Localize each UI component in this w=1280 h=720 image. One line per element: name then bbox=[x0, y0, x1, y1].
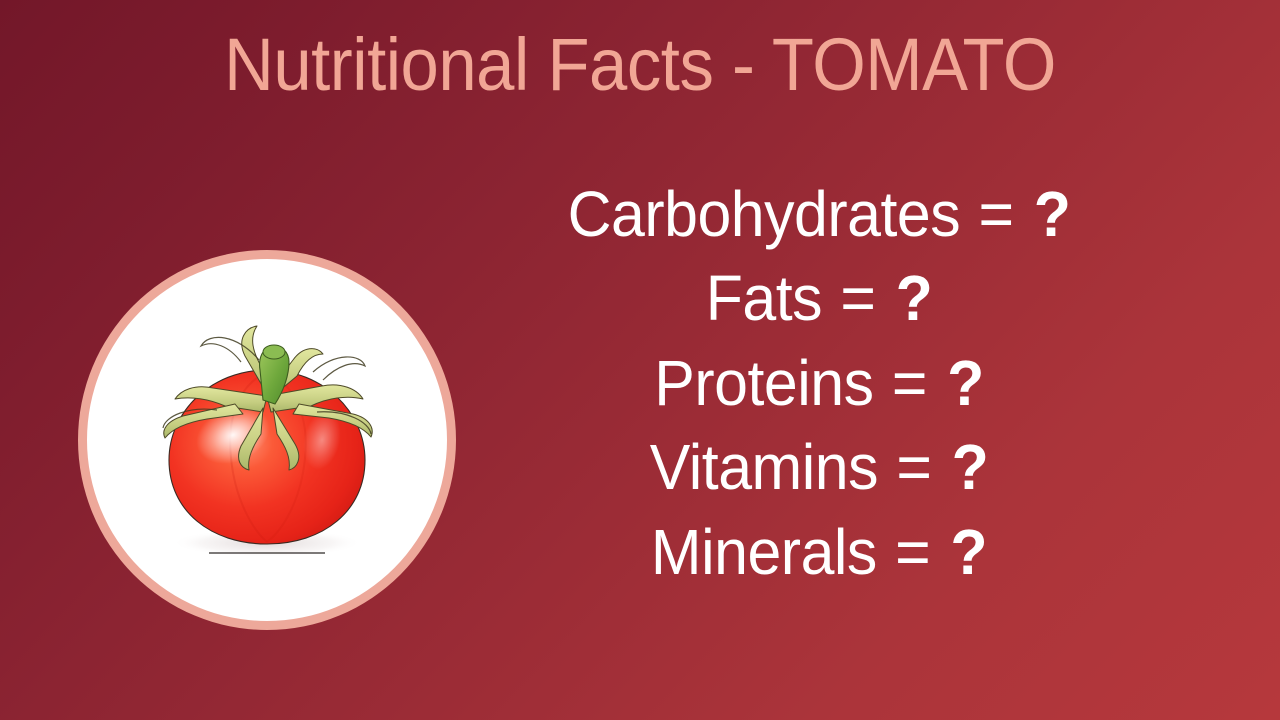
page-title: Nutritional Facts - TOMATO bbox=[45, 26, 1235, 104]
fact-row-proteins: Proteins = ? bbox=[484, 341, 1155, 425]
fact-row-fats: Fats = ? bbox=[484, 256, 1155, 340]
fact-row-carbohydrates: Carbohydrates = ? bbox=[484, 172, 1155, 256]
fact-value-proteins: ? bbox=[945, 347, 984, 419]
fact-value-minerals: ? bbox=[949, 516, 988, 588]
fact-equals-fats: = bbox=[838, 262, 877, 334]
fact-row-minerals: Minerals = ? bbox=[484, 510, 1155, 594]
fact-equals-minerals: = bbox=[893, 516, 932, 588]
fact-value-vitamins: ? bbox=[950, 431, 989, 503]
fact-equals-proteins: = bbox=[890, 347, 929, 419]
fact-label-carbohydrates: Carbohydrates bbox=[568, 178, 961, 250]
tomato-stem-top bbox=[263, 345, 285, 359]
fact-value-carbohydrates: ? bbox=[1032, 178, 1071, 250]
tomato-image-badge bbox=[78, 250, 456, 630]
fact-label-proteins: Proteins bbox=[654, 347, 873, 419]
nutrition-facts-list: Carbohydrates = ? Fats = ? Proteins = ? … bbox=[466, 172, 1172, 594]
fact-label-minerals: Minerals bbox=[651, 516, 877, 588]
fact-label-fats: Fats bbox=[706, 262, 822, 334]
fact-equals-vitamins: = bbox=[894, 431, 933, 503]
fact-label-vitamins: Vitamins bbox=[650, 431, 878, 503]
slide-root: Nutritional Facts - TOMATO bbox=[0, 0, 1280, 720]
fact-equals-carbohydrates: = bbox=[977, 178, 1016, 250]
fact-row-vitamins: Vitamins = ? bbox=[484, 425, 1155, 509]
fact-value-fats: ? bbox=[894, 262, 933, 334]
tomato-illustration bbox=[117, 300, 417, 580]
